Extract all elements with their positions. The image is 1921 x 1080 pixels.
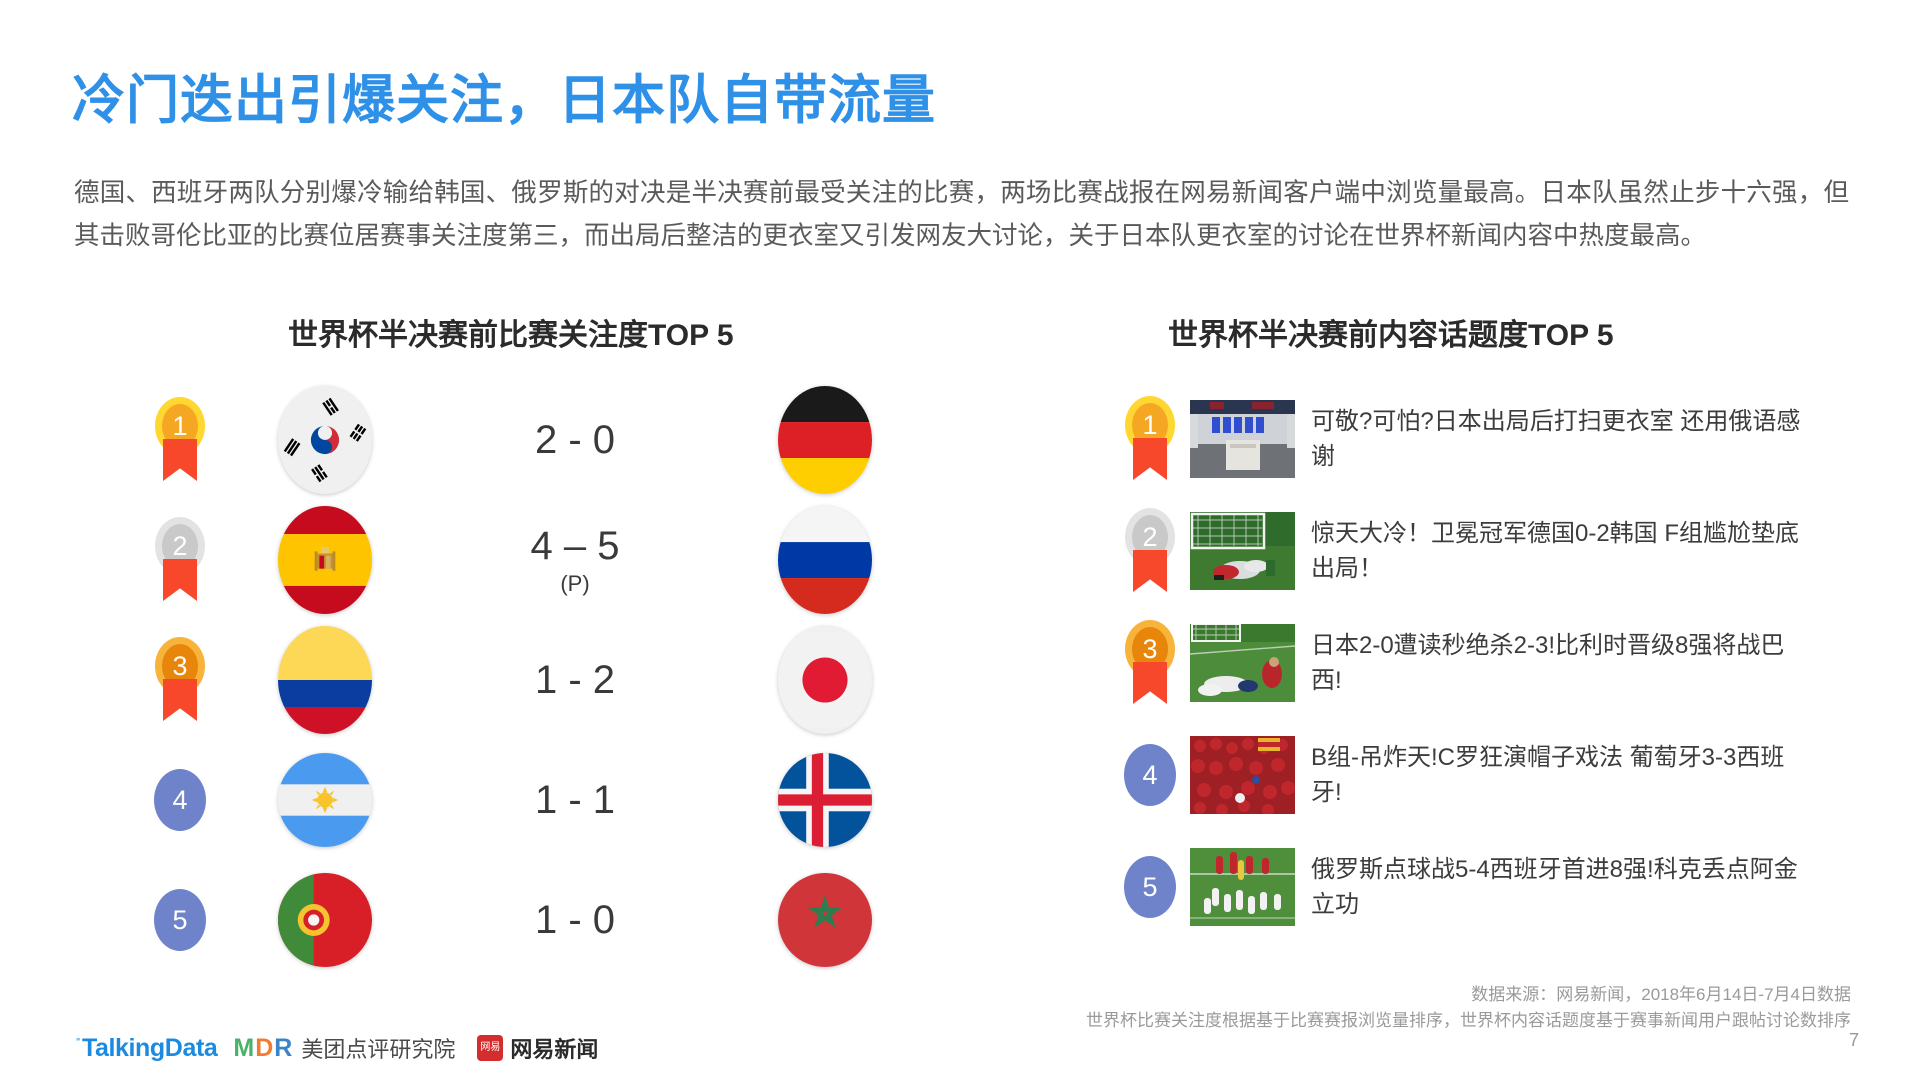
score-main: 2 - 0 — [535, 418, 615, 462]
silver-medal-icon: 2 — [1119, 508, 1181, 594]
topic-title: 日本2-0遭读秒绝杀2-3!比利时晋级8强将战巴西! — [1311, 628, 1811, 698]
topic-title: B组-吊炸天!C罗狂演帽子戏法 葡萄牙3-3西班牙! — [1311, 740, 1811, 810]
ribbon-icon — [1133, 662, 1167, 704]
ribbon-icon — [163, 679, 197, 721]
topic-row[interactable]: 4 — [1110, 719, 1900, 831]
score-main: 1 - 2 — [535, 658, 615, 702]
rank-cell: 4 — [120, 769, 240, 831]
silver-medal-icon: 2 — [149, 517, 211, 603]
intro-paragraph: 德国、西班牙两队分别爆冷输给韩国、俄罗斯的对决是半决赛前最受关注的比赛，两场比赛… — [74, 172, 1849, 258]
away-flag-cell — [740, 506, 910, 614]
ribbon-icon — [1133, 550, 1167, 592]
rank-badge: 5 — [154, 889, 206, 951]
topic-title: 俄罗斯点球战5-4西班牙首进8强!科克丢点阿金立功 — [1311, 852, 1811, 922]
match-row: 5 1 - 0 — [120, 860, 910, 980]
iceland-flag — [778, 753, 872, 847]
rank-cell: 1 — [1110, 396, 1190, 482]
rank-cell: 2 — [120, 517, 240, 603]
talkingdata-label: TalkingData — [82, 1034, 217, 1062]
talkingdata-mark: ˙ — [74, 1034, 82, 1062]
germany-flag — [778, 386, 872, 494]
celebration-photo — [1190, 848, 1295, 926]
gold-medal-icon: 1 — [1119, 396, 1181, 482]
argentina-flag — [278, 753, 372, 847]
rank-cell: 1 — [120, 397, 240, 483]
home-flag-cell — [240, 753, 410, 847]
rank-cell: 3 — [120, 637, 240, 723]
netease-mark-icon: 网易 — [477, 1035, 503, 1061]
topic-row[interactable]: 2 — [1110, 495, 1900, 607]
match-score: 4 – 5 (P) — [410, 526, 740, 595]
source-line-2: 世界杯比赛关注度根据基于比赛赛报浏览量排序，世界杯内容话题度基于赛事新闻用户跟帖… — [1086, 1008, 1851, 1034]
home-flag-cell — [240, 626, 410, 734]
meituan-research-label: 美团点评研究院 — [301, 1032, 455, 1064]
spain-flag — [278, 506, 372, 614]
topic-title: 惊天大冷！卫冕冠军德国0-2韩国 F组尴尬垫底出局！ — [1311, 516, 1811, 586]
ribbon-icon — [163, 439, 197, 481]
score-note: (P) — [410, 573, 740, 595]
score-main: 1 - 0 — [535, 898, 615, 942]
ribbon-icon — [1133, 438, 1167, 480]
gold-medal-icon: 1 — [149, 397, 211, 483]
home-flag-cell — [240, 386, 410, 494]
source-note: 数据来源：网易新闻，2018年6月14日-7月4日数据 世界杯比赛关注度根据基于… — [1086, 982, 1851, 1034]
match-row: 4 — [120, 740, 910, 860]
away-flag-cell — [740, 386, 910, 494]
match-score: 1 - 0 — [410, 900, 740, 940]
away-flag-cell — [740, 873, 910, 967]
japan-flag — [778, 626, 872, 734]
bronze-medal-icon: 3 — [1119, 620, 1181, 706]
colombia-flag — [278, 626, 372, 734]
home-flag-cell — [240, 873, 410, 967]
score-main: 4 – 5 — [531, 524, 620, 568]
topic-row[interactable]: 1 — [1110, 383, 1900, 495]
match-row: 2 — [120, 500, 910, 620]
locker-room-photo — [1190, 400, 1295, 478]
score-main: 1 - 1 — [535, 778, 615, 822]
topic-title: 可敬?可怕?日本出局后打扫更衣室 还用俄语感谢 — [1311, 404, 1811, 474]
source-line-1: 数据来源：网易新闻，2018年6月14日-7月4日数据 — [1086, 982, 1851, 1008]
rank-cell: 3 — [1110, 620, 1190, 706]
rank-cell: 2 — [1110, 508, 1190, 594]
topic-row[interactable]: 3 — [1110, 607, 1900, 719]
rank-cell: 5 — [1110, 856, 1190, 918]
rank-badge: 4 — [1124, 744, 1176, 806]
match-row: 3 1 - 2 — [120, 620, 910, 740]
mdr-letter-d: D — [255, 1034, 274, 1062]
rank-badge: 5 — [1124, 856, 1176, 918]
away-flag-cell — [740, 626, 910, 734]
logo-bar: ˙TalkingData MDR 美团点评研究院 网易 网易新闻 — [74, 1032, 598, 1064]
rank-cell: 5 — [120, 889, 240, 951]
netease-logo: 网易 网易新闻 — [477, 1032, 598, 1064]
slide-root: 冷门迭出引爆关注，日本队自带流量 德国、西班牙两队分别爆冷输给韩国、俄罗斯的对决… — [0, 0, 1921, 1080]
portugal-flag — [278, 873, 372, 967]
talkingdata-logo: ˙TalkingData — [74, 1034, 217, 1063]
page-number: 7 — [1849, 1030, 1859, 1051]
match-row: 1 — [120, 380, 910, 500]
page-title: 冷门迭出引爆关注，日本队自带流量 — [72, 58, 936, 134]
morocco-flag — [778, 873, 872, 967]
players-down-photo — [1190, 624, 1295, 702]
netease-news-label: 网易新闻 — [510, 1032, 598, 1064]
matches-section-heading: 世界杯半决赛前比赛关注度TOP 5 — [288, 310, 734, 354]
match-score: 1 - 2 — [410, 660, 740, 700]
russia-flag — [778, 506, 872, 614]
red-crowd-photo — [1190, 736, 1295, 814]
goalmouth-action-photo — [1190, 512, 1295, 590]
home-flag-cell — [240, 506, 410, 614]
mdr-logo: MDR — [233, 1034, 293, 1063]
topics-list: 1 — [1110, 383, 1900, 943]
rank-badge: 4 — [154, 769, 206, 831]
mdr-letter-m: M — [233, 1034, 255, 1062]
ribbon-icon — [163, 559, 197, 601]
rank-cell: 4 — [1110, 744, 1190, 806]
topic-row[interactable]: 5 — [1110, 831, 1900, 943]
topics-section-heading: 世界杯半决赛前内容话题度TOP 5 — [1168, 310, 1614, 354]
bronze-medal-icon: 3 — [149, 637, 211, 723]
mdr-letter-r: R — [274, 1034, 293, 1062]
korea-flag — [278, 386, 372, 494]
match-score: 1 - 1 — [410, 780, 740, 820]
away-flag-cell — [740, 753, 910, 847]
match-score: 2 - 0 — [410, 420, 740, 460]
matches-list: 1 — [120, 380, 910, 980]
